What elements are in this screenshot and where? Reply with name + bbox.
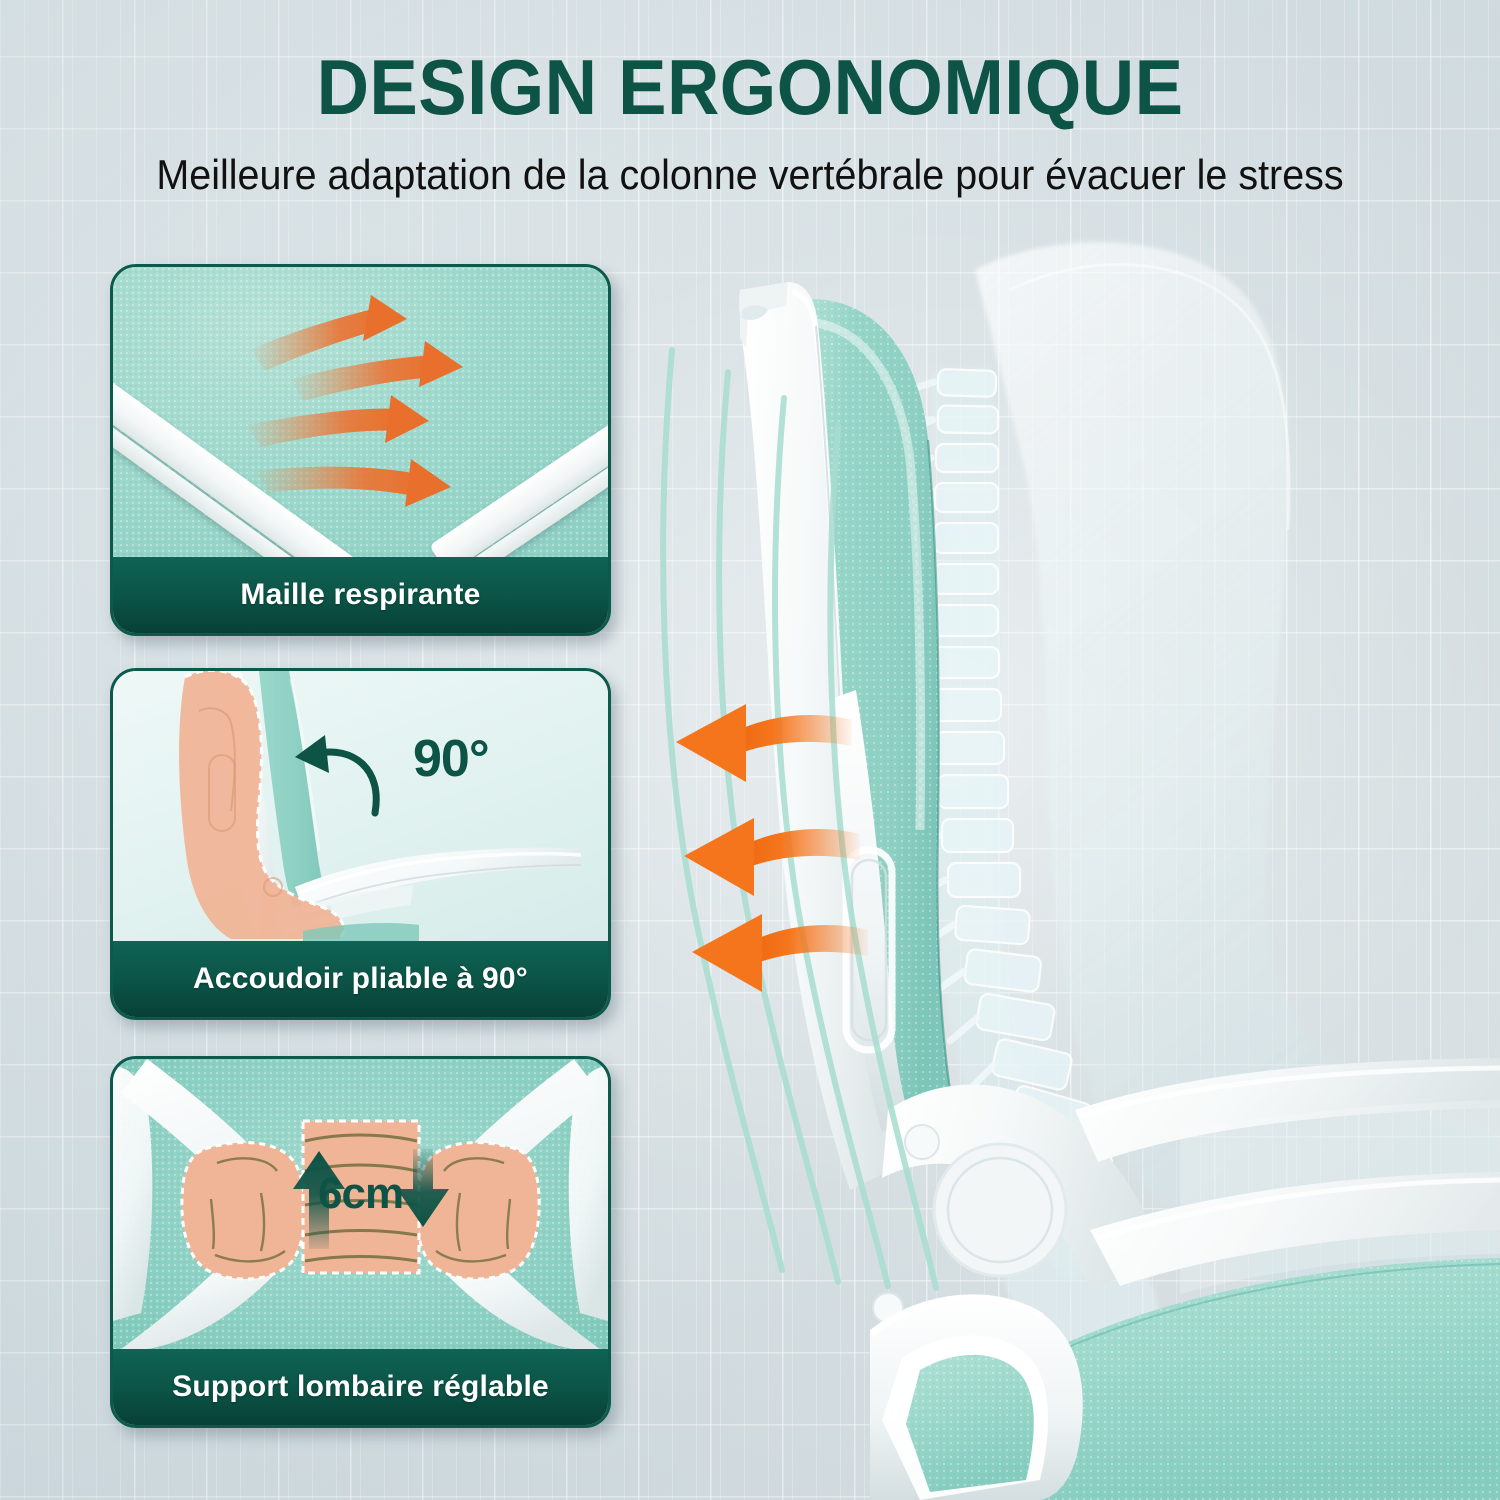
lumbar-range-callout: 6cm [318,1169,403,1219]
armrest-diagram [113,671,608,941]
angle-callout: 90° [413,729,489,789]
feature-card-label: Support lombaire réglable [113,1349,608,1425]
feature-card-label: Maille respirante [113,557,608,633]
ergonomic-chair-illustration [620,230,1500,1500]
lumbar-pad-right [416,1143,539,1280]
airflow-arrows-icon [113,267,608,557]
feature-card-breathable-mesh[interactable]: Maille respirante [110,264,611,636]
page-subtitle: Meilleure adaptation de la colonne verté… [45,152,1455,198]
folding-armrest-illustration: 90° [113,671,608,941]
lumbar-pad-left [182,1143,305,1280]
breathable-mesh-illustration [113,267,608,557]
lumbar-support-illustration: 6cm [113,1059,608,1349]
page-title: DESIGN ERGONOMIQUE [53,48,1448,126]
infographic-page: DESIGN ERGONOMIQUE Meilleure adaptation … [0,0,1500,1500]
feature-card-label: Accoudoir pliable à 90° [113,941,608,1017]
feature-card-lumbar-support[interactable]: 6cm Support lombaire réglable [110,1056,611,1428]
feature-card-folding-armrest[interactable]: 90° Accoudoir pliable à 90° [110,668,611,1020]
